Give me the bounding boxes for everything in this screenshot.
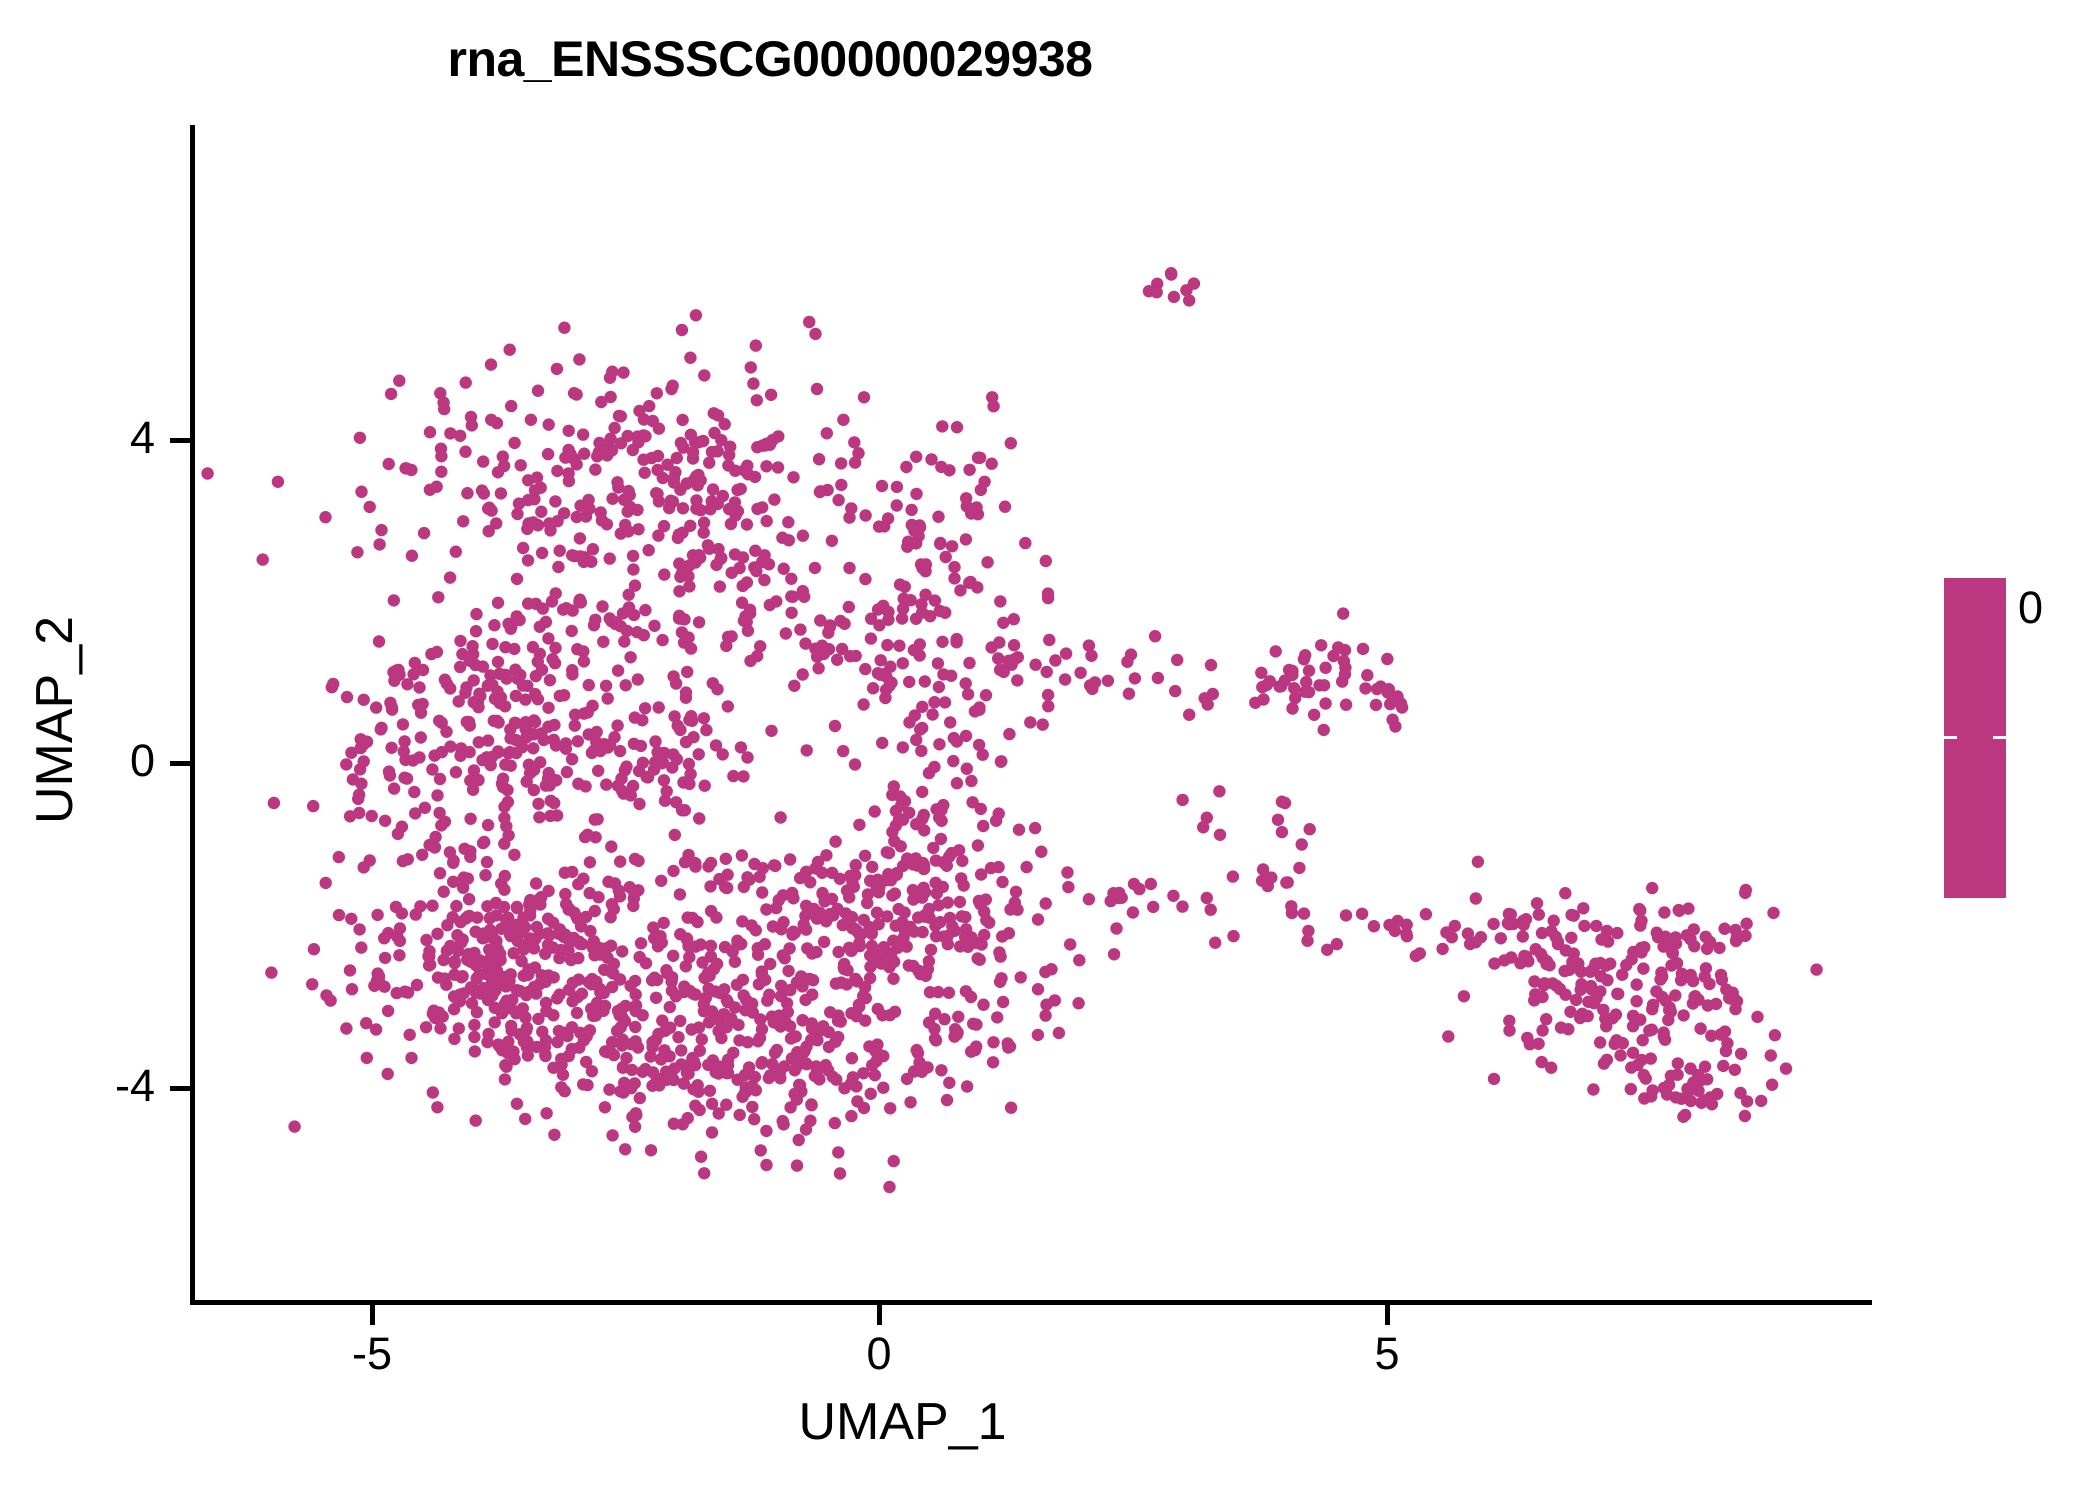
x-axis-line [193, 1300, 1872, 1305]
x-tick-mark-5 [1385, 1305, 1390, 1325]
y-tick-mark-4 [170, 438, 191, 443]
x-tick-label-0: 0 [799, 1328, 959, 1380]
x-tick-mark-neg5 [370, 1305, 375, 1325]
x-axis-label: UMAP_1 [63, 1392, 1742, 1452]
x-tick-label-5: 5 [1307, 1328, 1467, 1380]
colorbar-tick-right [1993, 736, 2006, 739]
scatter-points-layer [193, 125, 1872, 1302]
colorbar-tick-label-0: 0 [2018, 582, 2043, 634]
x-tick-mark-0 [877, 1305, 882, 1325]
page-title: rna_ENSSSCG00000029938 [0, 30, 1820, 88]
y-tick-mark-0 [170, 761, 191, 766]
x-tick-label-neg5: -5 [292, 1328, 452, 1380]
y-axis-label: UMAP_2 [25, 420, 85, 1020]
y-axis-line [190, 125, 195, 1305]
colorbar-legend[interactable] [1944, 578, 2006, 898]
y-tick-mark-neg4 [170, 1086, 191, 1091]
colorbar-tick-left [1944, 736, 1957, 739]
plot-panel [193, 125, 1872, 1302]
y-tick-label-neg4: -4 [0, 1060, 155, 1112]
chart-canvas: rna_ENSSSCG00000029938 -5 0 5 4 0 -4 UMA… [0, 0, 2100, 1500]
scatter-point-group [201, 267, 1822, 1193]
